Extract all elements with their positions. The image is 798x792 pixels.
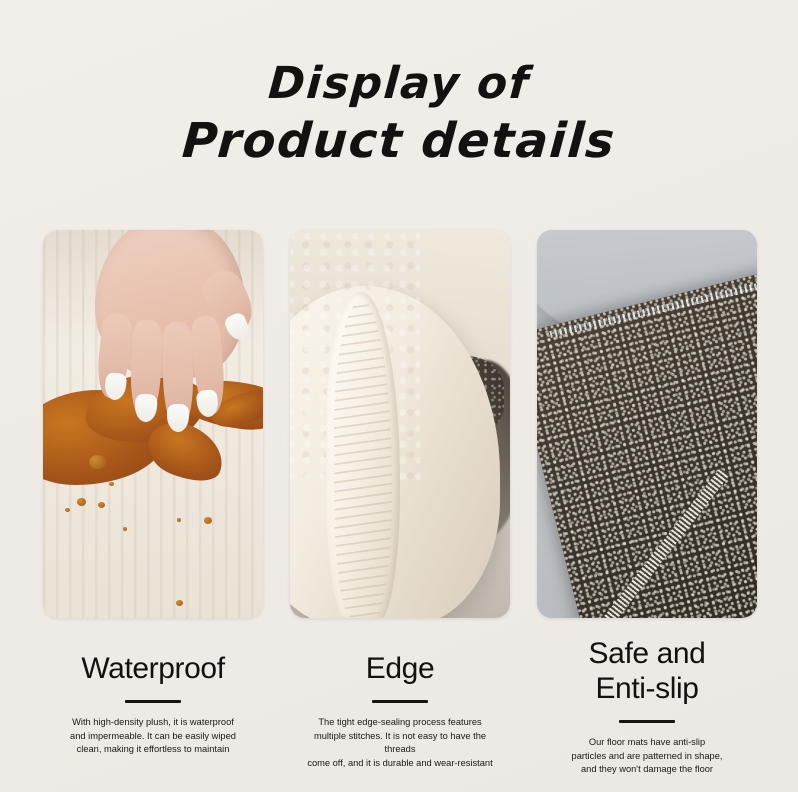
caption-body: Our floor mats have anti-slip particles … bbox=[547, 736, 747, 777]
caption-edge: Edge The tight edge-sealing process feat… bbox=[290, 636, 510, 786]
panel-image-edge bbox=[290, 230, 510, 618]
caption-body: The tight edge-sealing process features … bbox=[300, 716, 500, 770]
liquid-droplet bbox=[176, 600, 183, 606]
caption-body: With high-density plush, it is waterproo… bbox=[53, 716, 253, 757]
product-detail-page: Display of Product details bbox=[0, 0, 798, 792]
liquid-droplet bbox=[77, 498, 86, 506]
panel-image-waterproof bbox=[43, 230, 263, 618]
panel-image-anti-slip bbox=[537, 230, 757, 618]
page-title: Display of Product details bbox=[0, 56, 798, 170]
liquid-droplet bbox=[177, 518, 181, 522]
liquid-droplet bbox=[123, 527, 127, 531]
caption-heading: Safe and Enti-slip bbox=[537, 636, 757, 706]
caption-divider bbox=[619, 720, 675, 723]
liquid-droplet bbox=[65, 508, 70, 512]
fingernail bbox=[167, 404, 189, 432]
liquid-droplet bbox=[89, 455, 106, 469]
page-title-line-1: Display of bbox=[0, 56, 798, 112]
liquid-droplet bbox=[204, 517, 212, 524]
hand bbox=[81, 230, 249, 450]
liquid-droplet bbox=[98, 502, 105, 508]
fingernail bbox=[196, 389, 220, 418]
fingernail bbox=[135, 394, 158, 423]
caption-heading: Waterproof bbox=[43, 652, 263, 686]
caption-anti-slip: Safe and Enti-slip Our floor mats have a… bbox=[537, 636, 757, 786]
caption-row: Waterproof With high-density plush, it i… bbox=[43, 636, 757, 786]
caption-heading: Edge bbox=[290, 652, 510, 686]
panel-row bbox=[43, 230, 757, 618]
page-title-line-2: Product details bbox=[0, 112, 798, 170]
caption-divider bbox=[125, 700, 181, 703]
liquid-droplet bbox=[109, 482, 114, 486]
caption-waterproof: Waterproof With high-density plush, it i… bbox=[43, 636, 263, 786]
caption-divider bbox=[372, 700, 428, 703]
